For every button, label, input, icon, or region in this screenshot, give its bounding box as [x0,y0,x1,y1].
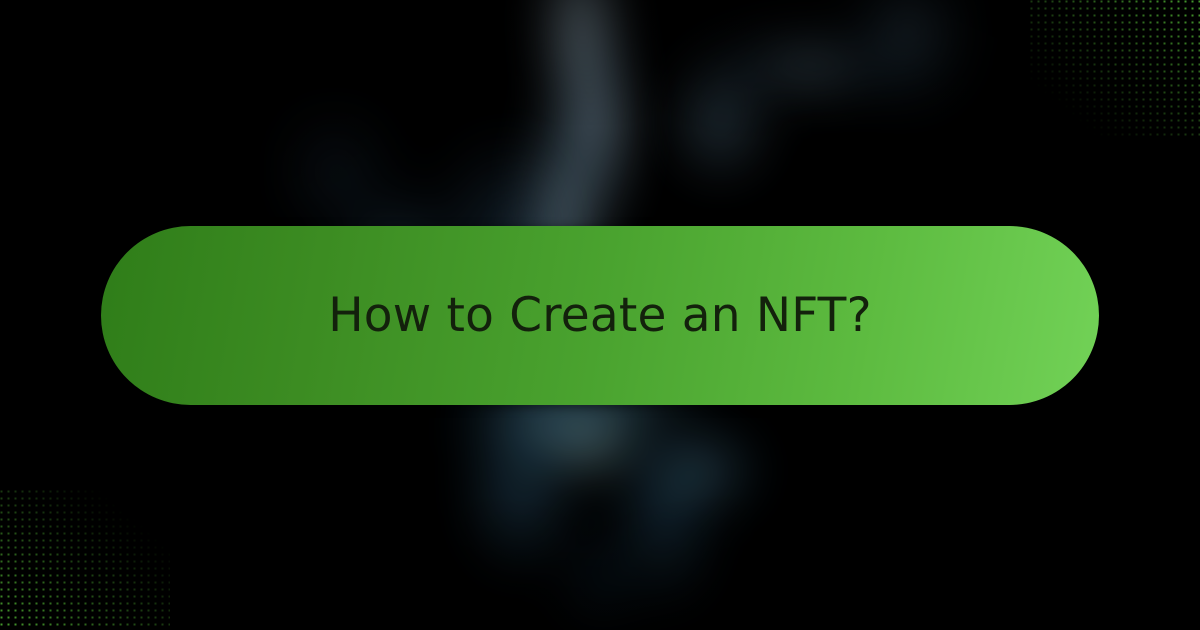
banner-canvas: How to Create an NFT? [0,0,1200,630]
title-pill: How to Create an NFT? [101,226,1099,405]
banner-title: How to Create an NFT? [328,292,871,339]
